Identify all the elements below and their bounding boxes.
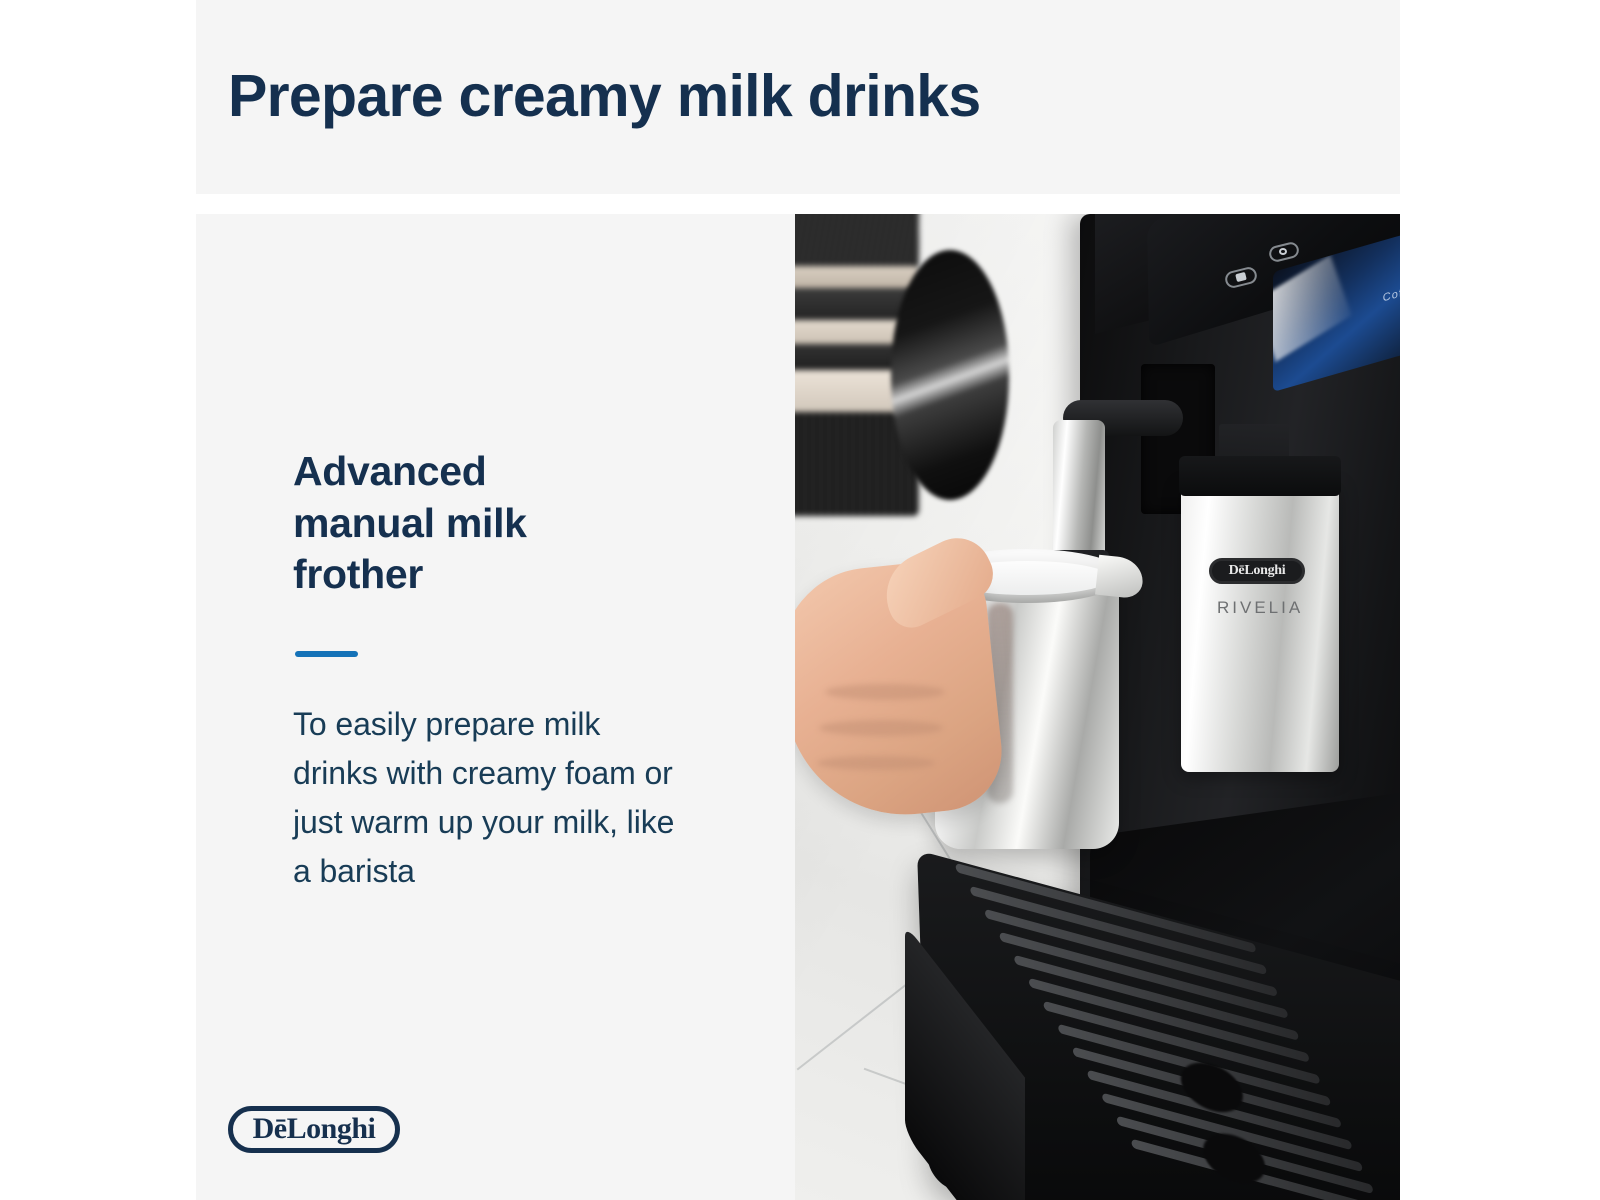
tray-cup-mark [1180, 1056, 1244, 1119]
finger-crease [825, 684, 945, 700]
machine-model-name: RIVELIA [1217, 598, 1303, 618]
power-touch-icon-glyph [1279, 248, 1287, 255]
promo-page: Prepare creamy milk drinks Advanced manu… [0, 0, 1600, 1200]
feature-heading: Advanced manual milk frother [293, 446, 623, 601]
accent-divider [295, 651, 358, 657]
delonghi-logo: DēLonghi [228, 1106, 400, 1153]
background-dark-vessel [891, 250, 1009, 500]
header-band: Prepare creamy milk drinks [196, 0, 1400, 194]
feature-description: To easily prepare milk drinks with cream… [293, 700, 693, 896]
product-photo: Coffee DēLonghi RIVELIA [795, 214, 1400, 1200]
page-title: Prepare creamy milk drinks [228, 66, 981, 128]
feature-text-column: Advanced manual milk frother To easily p… [196, 214, 795, 1200]
canister-band [795, 266, 919, 290]
content-panel: Advanced manual milk frother To easily p… [196, 214, 1400, 1200]
canister-band [795, 214, 919, 270]
milk-container-lid [1179, 456, 1341, 496]
finger-crease [817, 756, 935, 770]
display-label: Coffee [1383, 282, 1400, 305]
delonghi-logo-text: DēLonghi [253, 1114, 376, 1144]
machine-milk-container: DēLonghi RIVELIA [1181, 482, 1339, 772]
finger-crease [819, 720, 943, 736]
machine-brand-badge: DēLonghi [1209, 558, 1305, 584]
display-glare [1273, 255, 1352, 362]
